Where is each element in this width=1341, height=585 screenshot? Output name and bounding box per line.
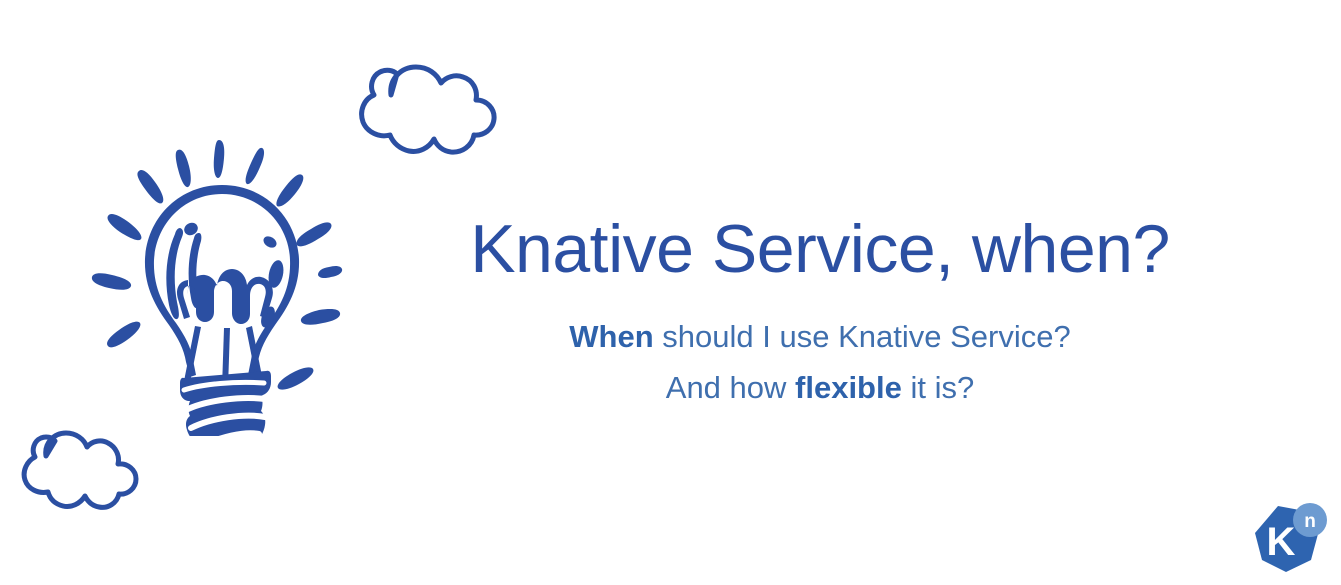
subtitle-line-2-rest: it is? (902, 370, 974, 405)
subtitle-line-1-strong: When (569, 319, 653, 354)
subtitle-line-2-lead: And how (666, 370, 795, 405)
knative-logo-k: K (1267, 520, 1296, 564)
subtitle-line-2: And how flexible it is? (420, 362, 1220, 414)
knative-logo-n: n (1304, 511, 1316, 532)
subtitle-line-2-strong: flexible (795, 370, 902, 405)
subtitle-line-1: When should I use Knative Service? (420, 311, 1220, 363)
headline-group: Knative Service, when? When should I use… (420, 214, 1220, 414)
cloud-illustration-bottom (8, 428, 150, 512)
page-title: Knative Service, when? (420, 214, 1220, 285)
lightbulb-illustration (78, 128, 368, 436)
slide-canvas: Knative Service, when? When should I use… (0, 0, 1341, 585)
subtitle-line-1-rest: should I use Knative Service? (654, 319, 1071, 354)
knative-logo: K n (1248, 500, 1330, 578)
cloud-illustration-top (345, 57, 505, 169)
